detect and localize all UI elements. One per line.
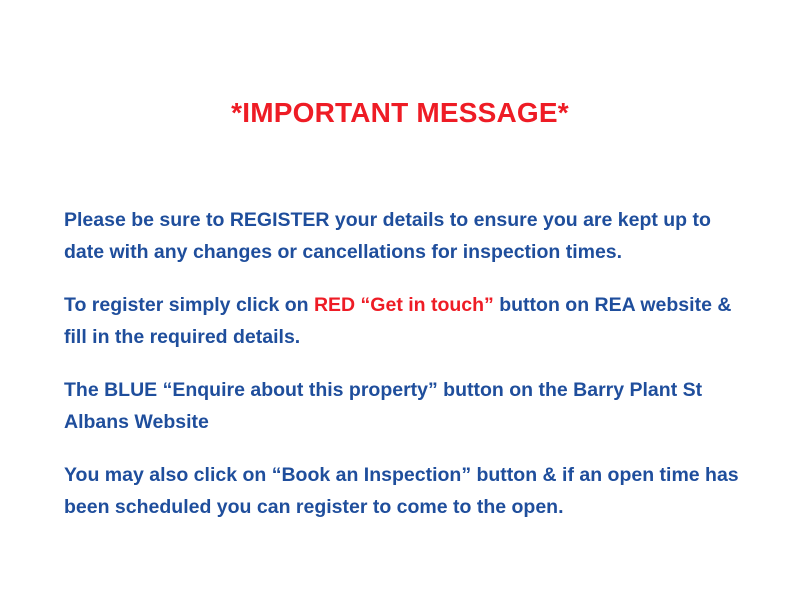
message-body: Please be sure to REGISTER your details … (64, 205, 740, 524)
paragraph-register-details: Please be sure to REGISTER your details … (64, 205, 740, 268)
slide-canvas: *IMPORTANT MESSAGE* Please be sure to RE… (0, 0, 800, 600)
paragraph-rea-text-before: To register simply click on (64, 294, 314, 316)
red-get-in-touch-highlight: RED “Get in touch” (314, 294, 494, 316)
paragraph-barry-plant-enquire: The BLUE “Enquire about this property” b… (64, 375, 740, 438)
page-title: *IMPORTANT MESSAGE* (0, 98, 800, 129)
paragraph-rea-get-in-touch: To register simply click on RED “Get in … (64, 290, 740, 353)
paragraph-book-an-inspection: You may also click on “Book an Inspectio… (64, 460, 740, 523)
